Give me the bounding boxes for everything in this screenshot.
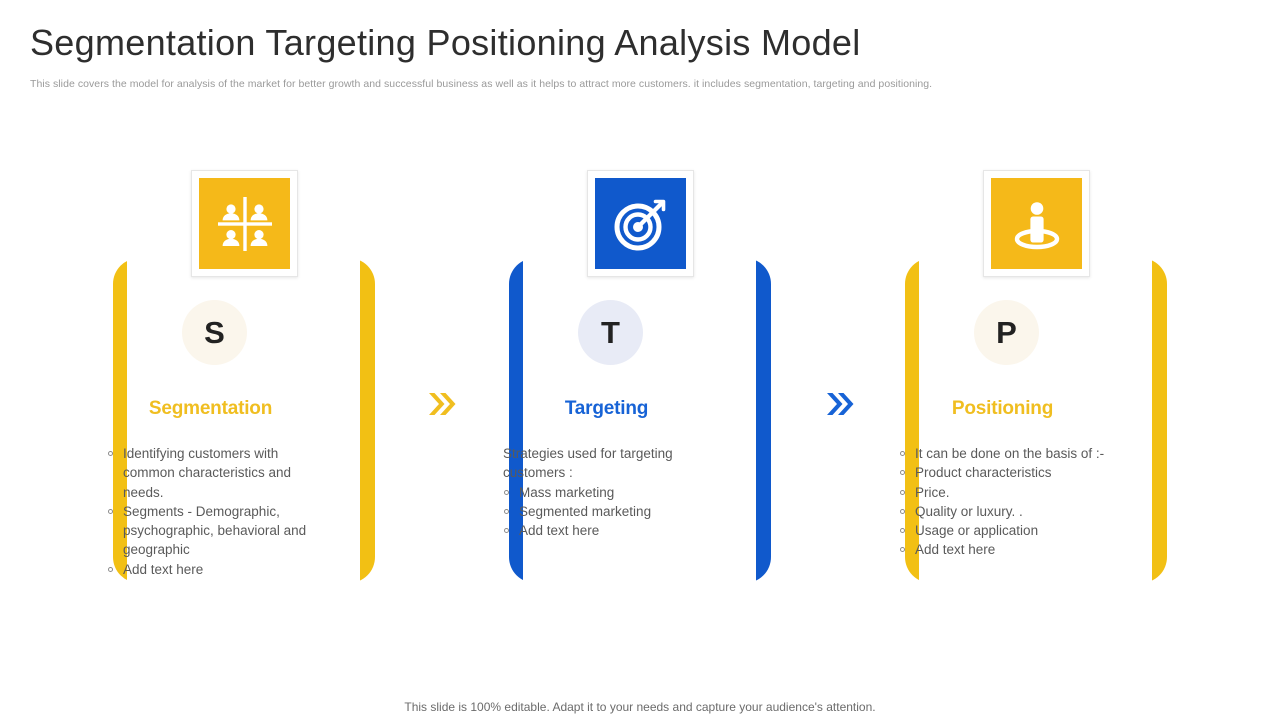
list-item: It can be done on the basis of :-: [894, 444, 1116, 463]
card-body: Strategies used for targeting customers …: [498, 444, 720, 540]
card-targeting[interactable]: T Targeting Strategies used for targetin…: [490, 160, 790, 630]
bullet-list: It can be done on the basis of :- Produc…: [894, 444, 1116, 560]
card-body: It can be done on the basis of :- Produc…: [894, 444, 1116, 560]
list-item: Segmented marketing: [498, 502, 720, 521]
card-heading: Targeting: [490, 398, 723, 420]
people-grid-icon: [199, 178, 290, 269]
letter-badge: P: [974, 300, 1039, 365]
card-surface: [523, 230, 756, 620]
card-heading: Segmentation: [94, 398, 327, 420]
list-item: Price.: [894, 483, 1116, 502]
list-item: Add text here: [102, 560, 324, 579]
icon-tile-wrapper[interactable]: [191, 170, 298, 277]
list-item: Mass marketing: [498, 483, 720, 502]
page-title: Segmentation Targeting Positioning Analy…: [30, 22, 861, 64]
card-positioning[interactable]: P Positioning It can be done on the basi…: [886, 160, 1186, 630]
list-item: Usage or application: [894, 521, 1116, 540]
card-body: Identifying customers with common charac…: [102, 444, 324, 579]
letter-badge: S: [182, 300, 247, 365]
bullet-list: Mass marketing Segmented marketing Add t…: [498, 483, 720, 541]
card-heading: Positioning: [886, 398, 1119, 420]
double-chevron-right-icon: [420, 385, 464, 423]
list-item: Segments - Demographic, psychographic, b…: [102, 502, 324, 560]
person-location-pin-icon: [991, 178, 1082, 269]
slide-footer-note: This slide is 100% editable. Adapt it to…: [0, 700, 1280, 714]
list-item: Identifying customers with common charac…: [102, 444, 324, 502]
letter-badge: T: [578, 300, 643, 365]
card-segmentation[interactable]: S Segmentation Identifying customers wit…: [94, 160, 394, 630]
list-item: Add text here: [498, 521, 720, 540]
card-surface: [919, 230, 1152, 620]
icon-tile-wrapper[interactable]: [983, 170, 1090, 277]
icon-tile-wrapper[interactable]: [587, 170, 694, 277]
bullet-list: Identifying customers with common charac…: [102, 444, 324, 579]
list-item: Add text here: [894, 540, 1116, 559]
list-item: Product characteristics: [894, 463, 1116, 482]
list-item: Quality or luxury. .: [894, 502, 1116, 521]
card-intro-text: Strategies used for targeting customers …: [503, 444, 720, 483]
target-arrow-icon: [595, 178, 686, 269]
double-chevron-right-icon: [818, 385, 862, 423]
page-subtitle: This slide covers the model for analysis…: [30, 78, 932, 90]
